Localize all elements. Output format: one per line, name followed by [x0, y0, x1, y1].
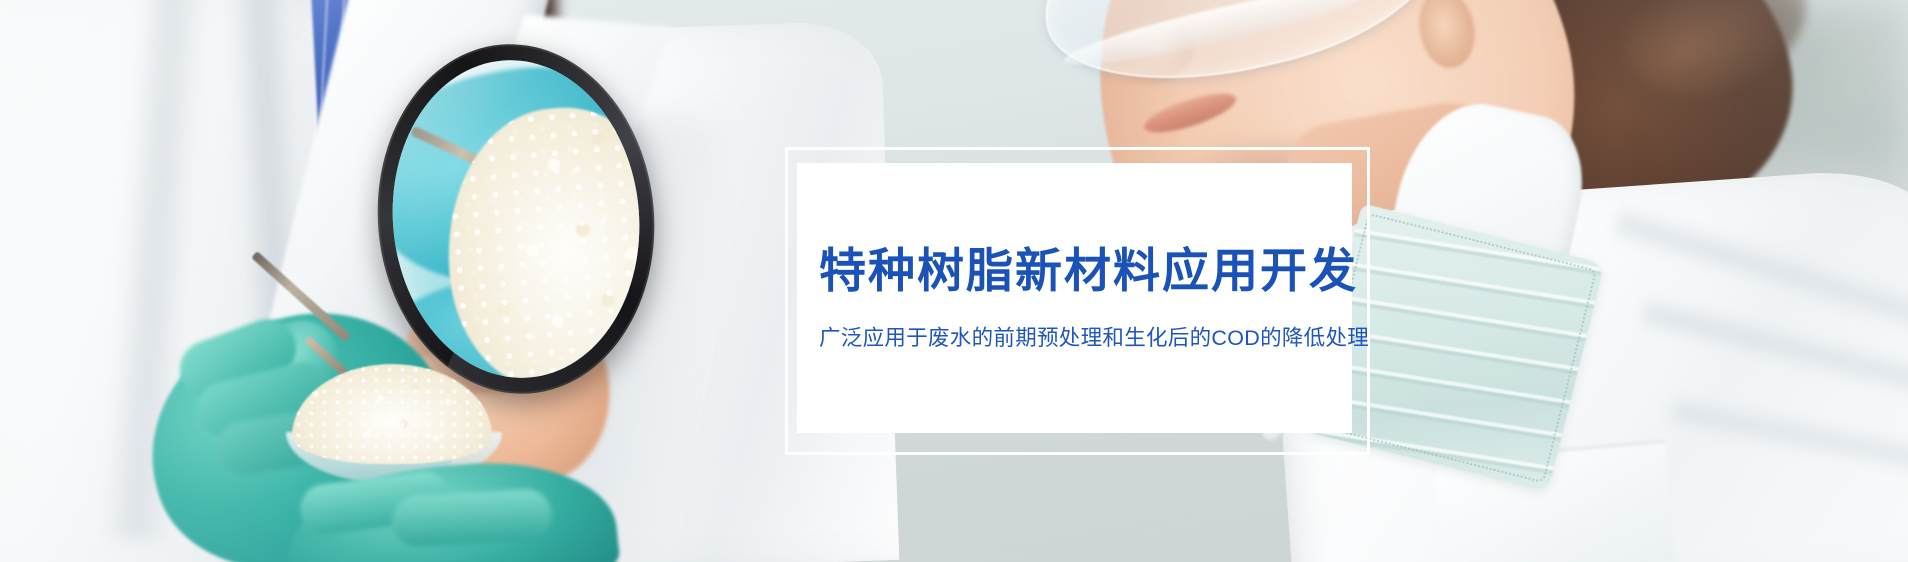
banner-subtitle: 广泛应用于废水的前期预处理和生化后的COD的降低处理 [819, 325, 1330, 353]
magnifying-glass-lens [380, 50, 653, 388]
teal-glove-lower-finger [391, 488, 554, 548]
banner-title: 特种树脂新材料应用开发 [819, 243, 1330, 298]
banner-text-card: 特种树脂新材料应用开发 广泛应用于废水的前期预处理和生化后的COD的降低处理 [797, 163, 1352, 433]
hero-banner[interactable]: 特种树脂新材料应用开发 广泛应用于废水的前期预处理和生化后的COD的降低处理 [0, 0, 1908, 562]
